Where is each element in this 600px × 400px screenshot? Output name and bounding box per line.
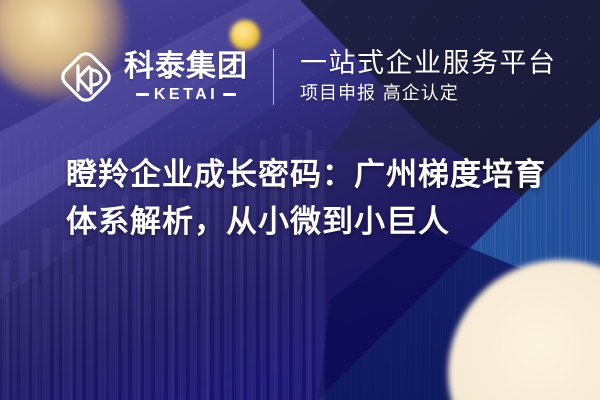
brand-logo[interactable]: 科泰集团 KETAI [58, 49, 248, 105]
tagline-main: 一站式企业服务平台 [300, 49, 557, 79]
headline: 瞪羚企业成长密码：广州梯度培育 体系解析，从小微到小巨人 [66, 152, 566, 246]
brand-name-cn: 科泰集团 [124, 52, 248, 82]
headline-line-2: 体系解析，从小微到小巨人 [66, 199, 566, 246]
brand-name-en: KETAI [154, 87, 218, 103]
wordmark-dash-right-icon [223, 93, 236, 96]
tagline-block: 一站式企业服务平台 项目申报 高企认定 [300, 49, 557, 106]
headline-line-1: 瞪羚企业成长密码：广州梯度培育 [66, 152, 566, 199]
brand-wordmark: 科泰集团 KETAI [124, 52, 248, 103]
banner-header: 科泰集团 KETAI 一站式企业服务平台 项目申报 高企认定 [0, 42, 600, 112]
tagline-sub: 项目申报 高企认定 [300, 83, 557, 106]
wordmark-dash-left-icon [136, 93, 149, 96]
brand-name-en-row: KETAI [136, 87, 236, 103]
promo-banner: 科泰集团 KETAI 一站式企业服务平台 项目申报 高企认定 瞪羚企业成长密码：… [0, 0, 600, 400]
header-divider [273, 49, 274, 105]
kp-diamond-monogram-icon [58, 49, 114, 105]
